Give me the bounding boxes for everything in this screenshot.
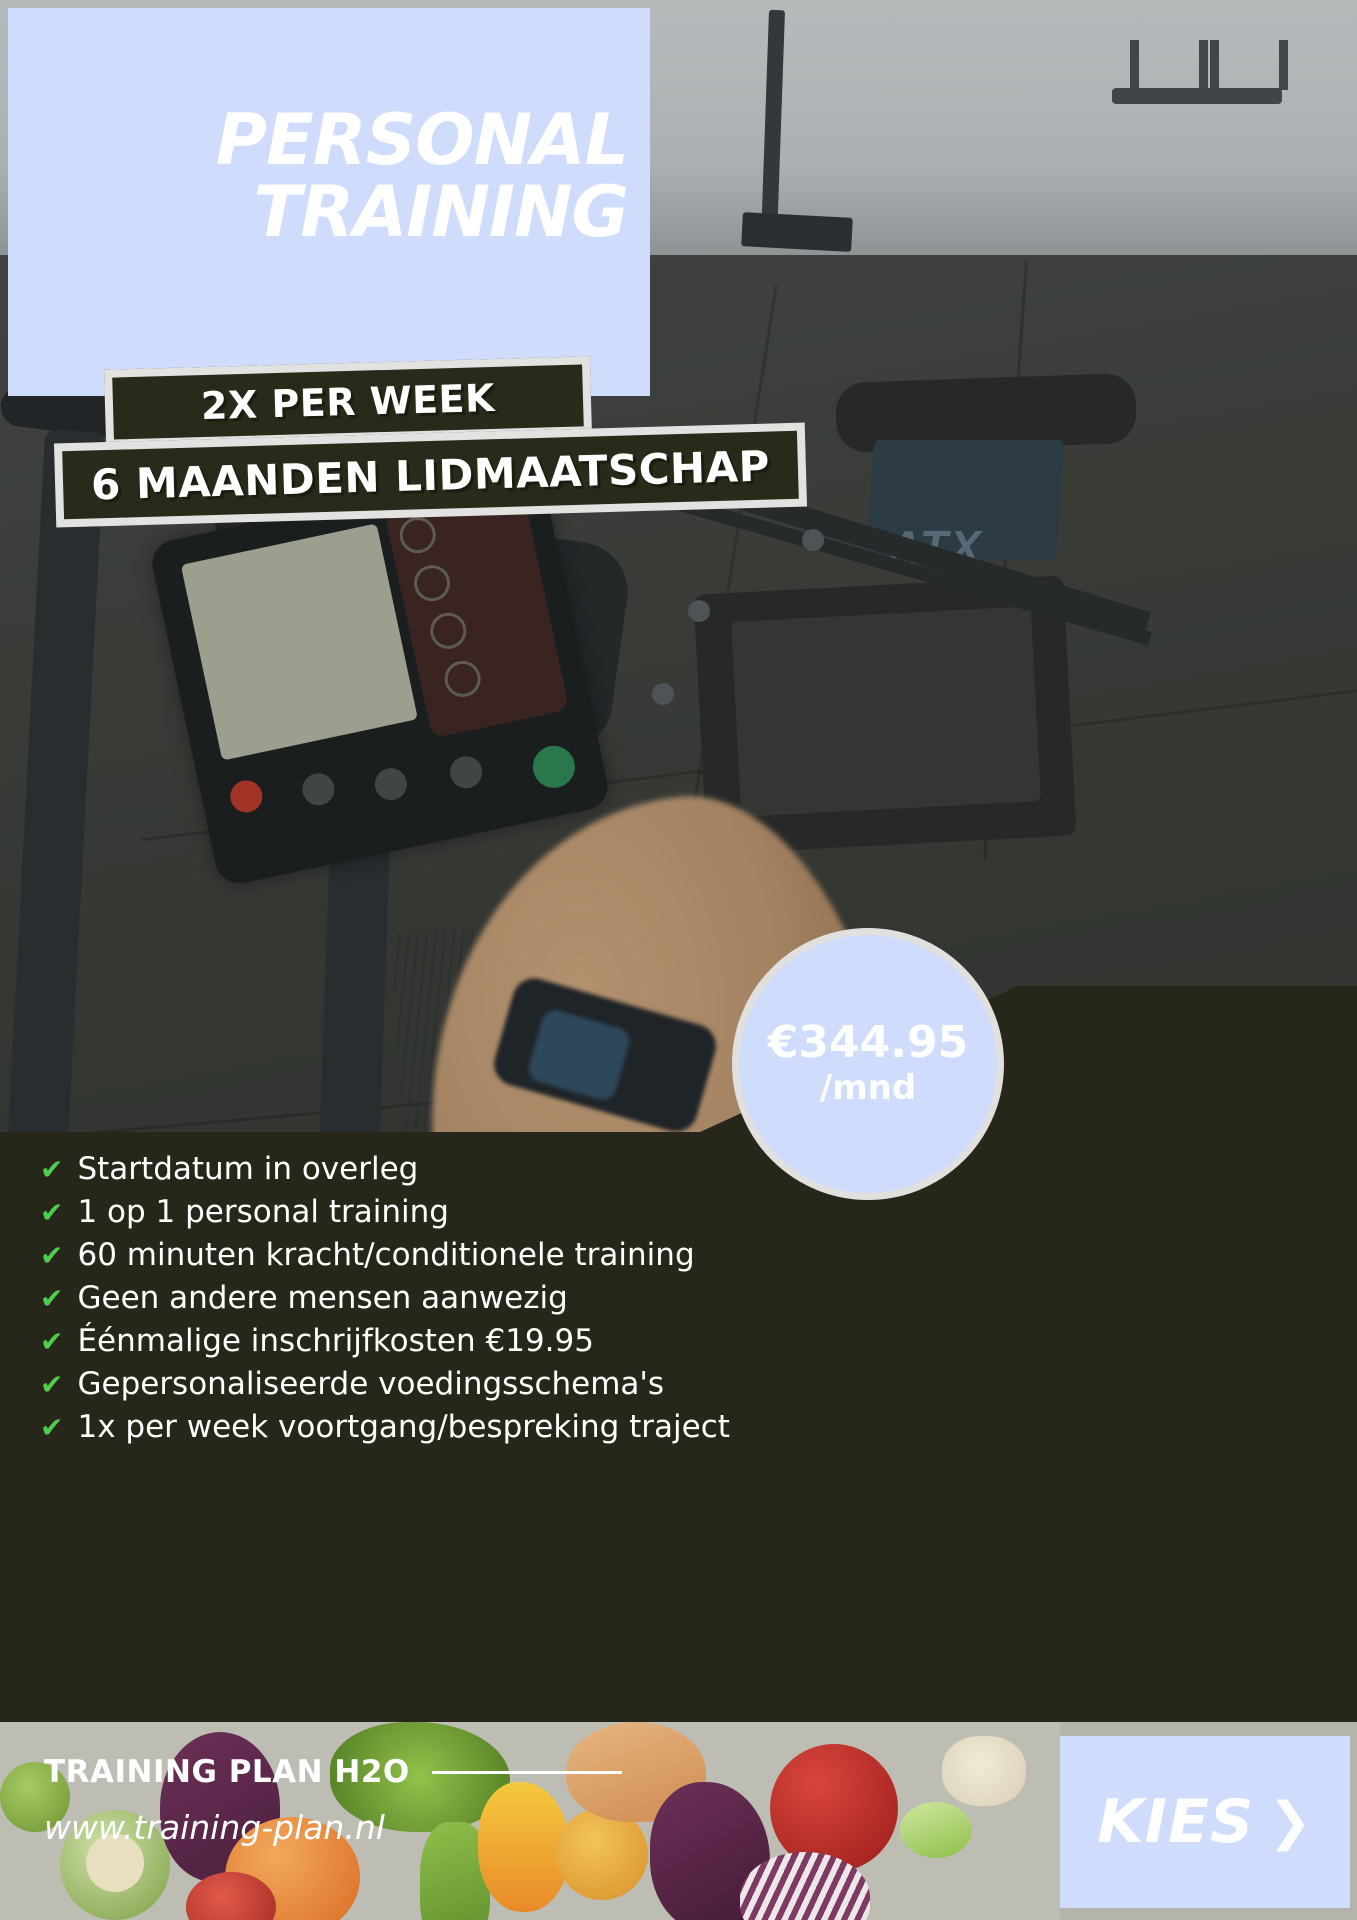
price-period: /mnd [820, 1068, 916, 1109]
feature-label: Startdatum in overleg [77, 1148, 418, 1191]
headline-panel: PERSONAL TRAINING [8, 8, 650, 396]
choose-button[interactable]: KIES ❯ [1060, 1736, 1350, 1908]
cucumber-slice [900, 1802, 972, 1858]
list-item: ✔ Geen andere mensen aanwezig [40, 1277, 1040, 1320]
check-icon: ✔ [40, 1191, 63, 1234]
mushroom [942, 1736, 1026, 1806]
page-title: PERSONAL TRAINING [8, 104, 628, 248]
list-item: ✔ 60 minuten kracht/conditionele trainin… [40, 1234, 1040, 1277]
check-icon: ✔ [40, 1234, 63, 1277]
promo-poster: ATX [0, 0, 1357, 1920]
feature-label: 60 minuten kracht/conditionele training [77, 1234, 694, 1277]
list-item: ✔ 1 op 1 personal training [40, 1191, 1040, 1234]
list-item: ✔ Éénmalige inschrijfkosten €19.95 [40, 1320, 1040, 1363]
check-icon: ✔ [40, 1363, 63, 1406]
headline-line-2: TRAINING [8, 176, 628, 248]
feature-label: Éénmalige inschrijfkosten €19.95 [77, 1320, 593, 1363]
check-icon: ✔ [40, 1277, 63, 1320]
list-item: ✔ Gepersonaliseerde voedingsschema's [40, 1363, 1040, 1406]
feature-list: ✔ Startdatum in overleg ✔ 1 op 1 persona… [40, 1148, 1040, 1449]
brand-name: TRAINING PLAN H2O [44, 1754, 410, 1790]
check-icon: ✔ [40, 1148, 63, 1191]
check-icon: ✔ [40, 1320, 63, 1363]
brand-url[interactable]: www.training-plan.nl [44, 1808, 385, 1847]
brand-lockup: TRAINING PLAN H2O [44, 1754, 622, 1790]
choose-button-label: KIES [1097, 1787, 1254, 1857]
feature-label: 1 op 1 personal training [77, 1191, 448, 1234]
feature-label: Gepersonaliseerde voedingsschema's [77, 1363, 664, 1406]
feature-label: Geen andere mensen aanwezig [77, 1277, 567, 1320]
brand-divider [432, 1771, 622, 1774]
feature-label: 1x per week voortgang/bespreking traject [77, 1406, 729, 1449]
check-icon: ✔ [40, 1406, 63, 1449]
price-amount: €344.95 [768, 1019, 968, 1067]
list-item: ✔ Startdatum in overleg [40, 1148, 1040, 1191]
chevron-right-icon: ❯ [1268, 1792, 1313, 1852]
list-item: ✔ 1x per week voortgang/bespreking traje… [40, 1406, 1040, 1449]
headline-line-1: PERSONAL [8, 104, 628, 176]
